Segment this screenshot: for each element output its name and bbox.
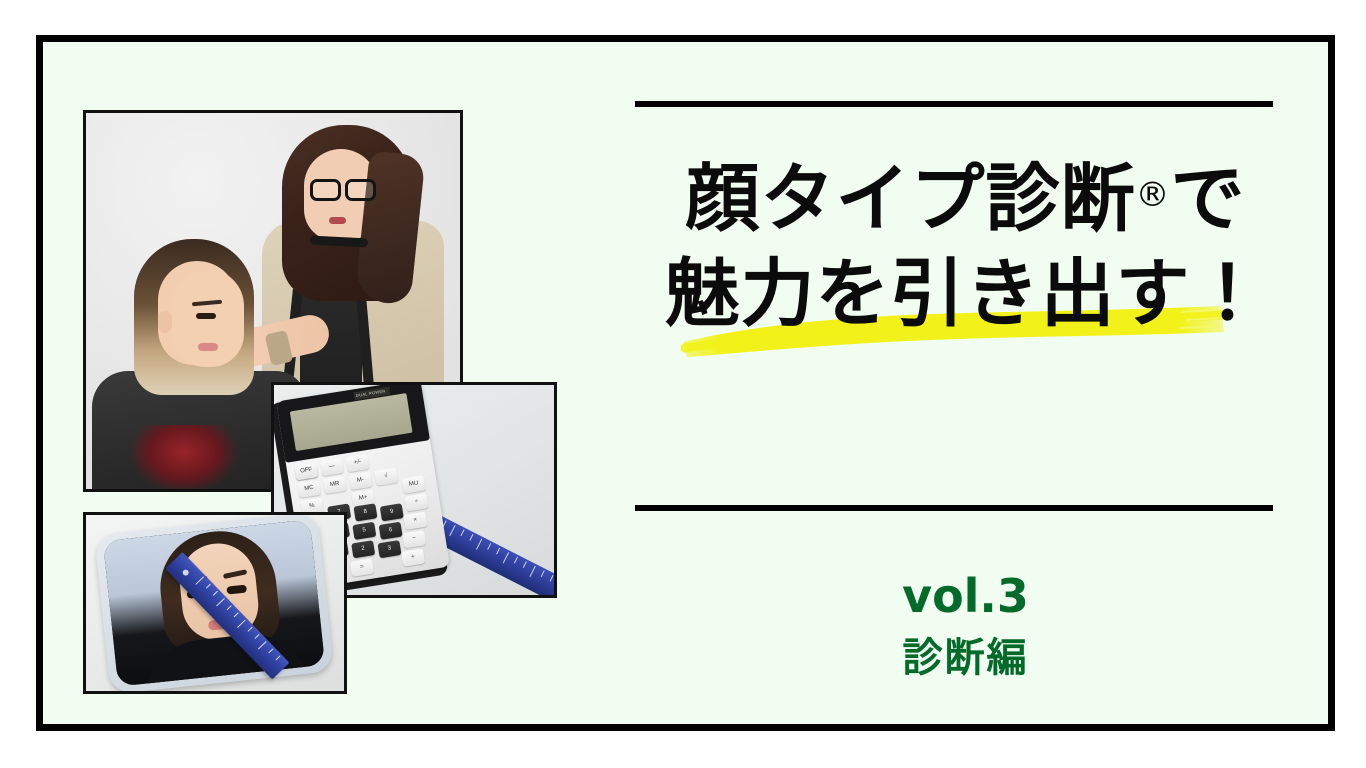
- slide-root: DUAL POWER OFF OFF — +/- MC MR M- √ % M+: [0, 0, 1366, 768]
- divider-bottom: [635, 505, 1273, 511]
- glasses-icon: [310, 179, 376, 196]
- key-mu: MU: [402, 475, 426, 493]
- key-plus-minus: +/-: [346, 454, 370, 472]
- registered-trademark-icon: ®: [1136, 175, 1171, 215]
- calculator-display: [290, 393, 413, 451]
- key-3: 3: [377, 540, 401, 558]
- phone-ruler-face-photo: [83, 512, 347, 694]
- ruler-hole: [181, 568, 189, 576]
- divider-top: [635, 101, 1273, 107]
- key-equals: =: [350, 559, 374, 577]
- client-eye: [196, 313, 216, 319]
- headline-line-2: 魅力を引き出す！: [603, 247, 1328, 342]
- key-mr: MR: [323, 476, 347, 494]
- key-m-minus: M-: [348, 472, 372, 490]
- key-6: 6: [379, 522, 403, 540]
- client-lips: [198, 343, 218, 351]
- headline-line-1: 顔タイプ診断®で: [603, 152, 1328, 247]
- photo-collage: DUAL POWER OFF OFF — +/- MC MR M- √ % M+: [43, 42, 603, 738]
- key-clear: —: [320, 458, 344, 476]
- key-divide: ÷: [404, 493, 428, 511]
- volume-number: vol.3: [603, 572, 1328, 622]
- headline-line-1-text: 顔タイプ診断: [686, 156, 1136, 242]
- headline: 顔タイプ診断®で 魅力を引き出す！: [603, 152, 1328, 341]
- key-mc: MC: [297, 480, 321, 498]
- volume-block: vol.3 診断編: [603, 572, 1328, 680]
- consultant-lips: [329, 217, 346, 224]
- key-plus: +: [401, 548, 425, 566]
- key-off: OFF: [294, 462, 318, 480]
- key-5: 5: [352, 522, 376, 540]
- smartphone: [94, 512, 333, 694]
- key-9: 9: [380, 503, 404, 521]
- key-8: 8: [353, 503, 377, 521]
- framed-card: DUAL POWER OFF OFF — +/- MC MR M- √ % M+: [36, 35, 1335, 731]
- title-pane: 顔タイプ診断®で 魅力を引き出す！ vol.3 診断編: [603, 42, 1328, 738]
- key-sqrt: √: [374, 468, 398, 486]
- client-ear: [158, 311, 172, 333]
- shirt-print-graphic: [130, 425, 238, 492]
- key-multiply: ×: [403, 512, 427, 530]
- volume-subtitle: 診断編: [603, 636, 1328, 680]
- key-minus: −: [402, 530, 426, 548]
- headline-line-1-tail: で: [1171, 156, 1246, 242]
- key-2: 2: [351, 540, 375, 558]
